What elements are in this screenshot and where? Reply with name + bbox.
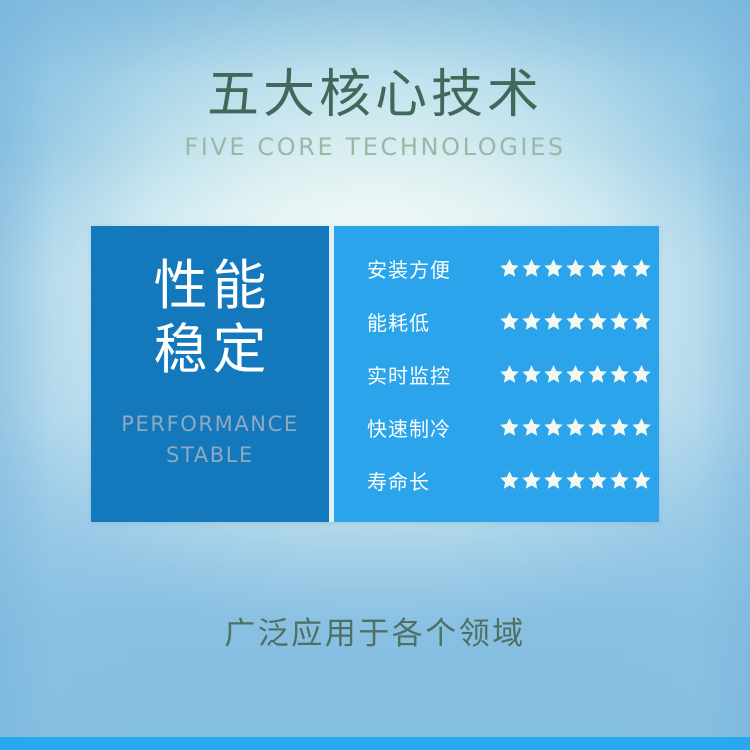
performance-headline: 性能 稳定	[149, 254, 272, 381]
star-icon	[631, 258, 652, 279]
performance-subtitle: PERFORMANCE STABLE	[121, 409, 298, 470]
star-icon	[631, 470, 652, 491]
star-icon	[609, 311, 630, 332]
page-subtitle: FIVE CORE TECHNOLOGIES	[0, 133, 750, 161]
star-icon	[543, 417, 564, 438]
performance-subtitle-line-1: PERFORMANCE	[121, 409, 298, 439]
feature-card: 性能 稳定 PERFORMANCE STABLE 安装方便能耗低实时监控快速制冷…	[91, 226, 659, 522]
star-icon	[521, 470, 542, 491]
star-icon	[521, 311, 542, 332]
star-icon	[609, 470, 630, 491]
star-icon	[543, 258, 564, 279]
star-icon	[565, 364, 586, 385]
star-icon	[631, 311, 652, 332]
feature-row: 实时监控	[334, 348, 659, 401]
poster-canvas: 五大核心技术 FIVE CORE TECHNOLOGIES 性能 稳定 PERF…	[0, 0, 750, 750]
star-icon	[565, 470, 586, 491]
star-icon	[609, 417, 630, 438]
star-icon	[499, 470, 520, 491]
feature-row: 能耗低	[334, 295, 659, 348]
performance-headline-line-2: 稳定	[149, 318, 272, 382]
feature-rating-stars	[499, 311, 652, 332]
star-icon	[609, 364, 630, 385]
star-icon	[543, 364, 564, 385]
star-icon	[521, 258, 542, 279]
star-icon	[631, 417, 652, 438]
star-icon	[521, 417, 542, 438]
star-icon	[565, 311, 586, 332]
feature-rating-list: 安装方便能耗低实时监控快速制冷寿命长	[334, 226, 659, 522]
star-icon	[499, 258, 520, 279]
bottom-accent-stripe	[0, 737, 750, 750]
star-icon	[499, 311, 520, 332]
performance-panel: 性能 稳定 PERFORMANCE STABLE	[91, 226, 329, 522]
header: 五大核心技术 FIVE CORE TECHNOLOGIES	[0, 66, 750, 161]
feature-row: 安装方便	[334, 242, 659, 295]
feature-rating-stars	[499, 417, 652, 438]
star-icon	[543, 470, 564, 491]
star-icon	[609, 258, 630, 279]
feature-label: 实时监控	[367, 360, 485, 389]
feature-rating-stars	[499, 364, 652, 385]
feature-row: 快速制冷	[334, 401, 659, 454]
feature-label: 寿命长	[367, 466, 485, 495]
performance-subtitle-line-2: STABLE	[121, 440, 298, 470]
star-icon	[543, 311, 564, 332]
feature-label: 快速制冷	[367, 413, 485, 442]
star-icon	[521, 364, 542, 385]
star-icon	[587, 470, 608, 491]
performance-headline-line-1: 性能	[149, 254, 272, 318]
feature-label: 能耗低	[367, 307, 485, 336]
footer: 广泛应用于各个领域	[0, 608, 750, 653]
star-icon	[587, 417, 608, 438]
star-icon	[499, 364, 520, 385]
star-icon	[631, 364, 652, 385]
star-icon	[565, 417, 586, 438]
star-icon	[587, 311, 608, 332]
feature-rating-stars	[499, 470, 652, 491]
star-icon	[565, 258, 586, 279]
feature-rating-stars	[499, 258, 652, 279]
star-icon	[499, 417, 520, 438]
page-title: 五大核心技术	[0, 66, 750, 124]
footer-caption: 广泛应用于各个领域	[0, 608, 750, 653]
feature-row: 寿命长	[334, 454, 659, 507]
feature-label: 安装方便	[367, 254, 485, 283]
star-icon	[587, 258, 608, 279]
star-icon	[587, 364, 608, 385]
